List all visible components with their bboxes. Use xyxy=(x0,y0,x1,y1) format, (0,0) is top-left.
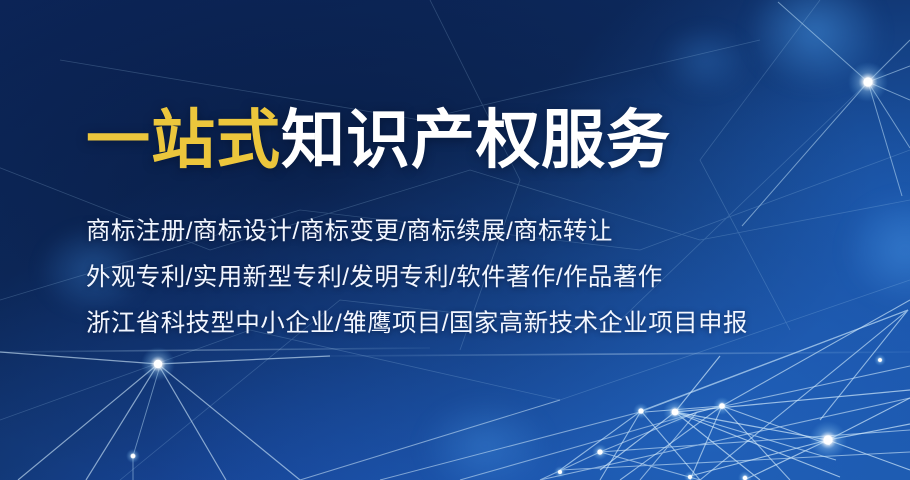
promotional-banner: 一站式知识产权服务 商标注册/商标设计/商标变更/商标续展/商标转让 外观专利/… xyxy=(0,0,910,480)
list-item: 浙江省科技型中小企业/雏鹰项目/国家高新技术企业项目申报 xyxy=(86,301,826,347)
service-list: 商标注册/商标设计/商标变更/商标续展/商标转让 外观专利/实用新型专利/发明专… xyxy=(86,209,826,347)
banner-copy: 一站式知识产权服务 商标注册/商标设计/商标变更/商标续展/商标转让 外观专利/… xyxy=(86,108,826,347)
page-title: 一站式知识产权服务 xyxy=(86,108,826,173)
headline-highlight: 一站式 xyxy=(86,104,281,176)
list-item: 外观专利/实用新型专利/发明专利/软件著作/作品著作 xyxy=(86,255,826,301)
list-item: 商标注册/商标设计/商标变更/商标续展/商标转让 xyxy=(86,209,826,255)
headline-rest: 知识产权服务 xyxy=(281,104,671,176)
